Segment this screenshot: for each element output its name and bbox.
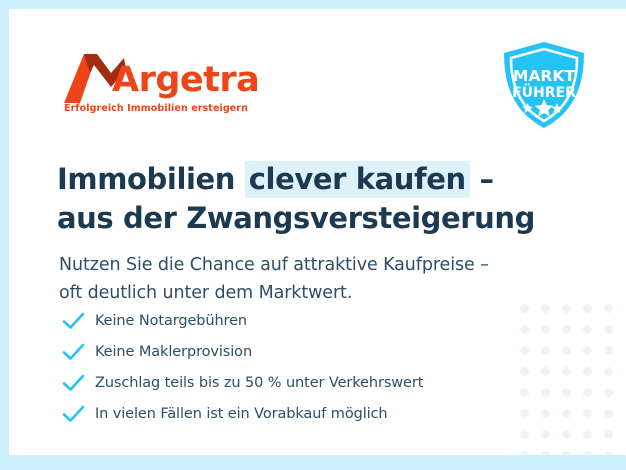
badge-line2: FÜHRER bbox=[512, 83, 576, 101]
grid-dot bbox=[562, 325, 571, 334]
argetra-logo[interactable]: Argetra Erfolgreich Immobilien ersteiger… bbox=[64, 47, 264, 119]
check-icon bbox=[61, 373, 87, 393]
benefit-label: Keine Maklerprovision bbox=[87, 344, 252, 360]
benefit-item: Zuschlag teils bis zu 50 % unter Verkehr… bbox=[61, 367, 531, 398]
headline-line1-before: Immobilien bbox=[57, 162, 245, 196]
grid-dot bbox=[562, 388, 571, 397]
grid-dot bbox=[520, 451, 529, 455]
grid-dot bbox=[604, 451, 613, 455]
grid-dot bbox=[562, 451, 571, 455]
grid-dot bbox=[583, 367, 592, 376]
check-icon bbox=[61, 342, 87, 362]
market-leader-badge: MARKT FÜHRER bbox=[496, 37, 592, 133]
grid-dot bbox=[562, 409, 571, 418]
benefits-list: Keine NotargebührenKeine Maklerprovision… bbox=[61, 305, 531, 429]
grid-dot bbox=[541, 451, 550, 455]
headline-highlight: clever kaufen bbox=[245, 161, 470, 198]
banner-card: Argetra Erfolgreich Immobilien ersteiger… bbox=[9, 9, 626, 455]
benefit-item: Keine Notargebühren bbox=[61, 305, 531, 336]
grid-dot bbox=[541, 367, 550, 376]
grid-dot bbox=[604, 325, 613, 334]
grid-dot bbox=[583, 346, 592, 355]
grid-dot bbox=[583, 388, 592, 397]
grid-dot bbox=[583, 451, 592, 455]
benefit-label: In vielen Fällen ist ein Vorabkauf mögli… bbox=[87, 406, 388, 422]
check-icon bbox=[61, 404, 87, 424]
benefit-label: Zuschlag teils bis zu 50 % unter Verkehr… bbox=[87, 375, 423, 391]
subheading-line2: oft deutlich unter dem Marktwert. bbox=[59, 283, 352, 303]
grid-dot bbox=[562, 367, 571, 376]
grid-dot bbox=[604, 346, 613, 355]
grid-dot bbox=[604, 409, 613, 418]
headline-line1-after: – bbox=[470, 162, 494, 196]
promo-banner: Argetra Erfolgreich Immobilien ersteiger… bbox=[0, 0, 626, 470]
grid-dot bbox=[541, 346, 550, 355]
grid-dot bbox=[562, 430, 571, 439]
logo-wordmark: Argetra bbox=[112, 63, 259, 98]
grid-dot bbox=[562, 346, 571, 355]
grid-dot bbox=[604, 388, 613, 397]
subheading: Nutzen Sie die Chance auf attraktive Kau… bbox=[59, 251, 579, 308]
dot-grid-icon bbox=[520, 304, 626, 455]
grid-dot bbox=[583, 304, 592, 313]
grid-dot bbox=[604, 430, 613, 439]
grid-dot bbox=[604, 304, 613, 313]
headline-line2: aus der Zwangsversteigerung bbox=[57, 201, 535, 235]
grid-dot bbox=[604, 367, 613, 376]
grid-dot bbox=[541, 325, 550, 334]
benefit-label: Keine Notargebühren bbox=[87, 313, 247, 329]
badge-line1: MARKT bbox=[513, 67, 575, 85]
benefit-item: In vielen Fällen ist ein Vorabkauf mögli… bbox=[61, 398, 531, 429]
check-icon bbox=[61, 311, 87, 331]
grid-dot bbox=[541, 430, 550, 439]
grid-dot bbox=[541, 388, 550, 397]
grid-dot bbox=[541, 409, 550, 418]
grid-dot bbox=[520, 430, 529, 439]
logo-tagline: Erfolgreich Immobilien ersteigern bbox=[64, 103, 248, 114]
subheading-line1: Nutzen Sie die Chance auf attraktive Kau… bbox=[59, 255, 489, 275]
grid-dot bbox=[583, 325, 592, 334]
grid-dot bbox=[583, 409, 592, 418]
grid-dot bbox=[583, 430, 592, 439]
headline: Immobilien clever kaufen – aus der Zwang… bbox=[57, 160, 557, 237]
benefit-item: Keine Maklerprovision bbox=[61, 336, 531, 367]
